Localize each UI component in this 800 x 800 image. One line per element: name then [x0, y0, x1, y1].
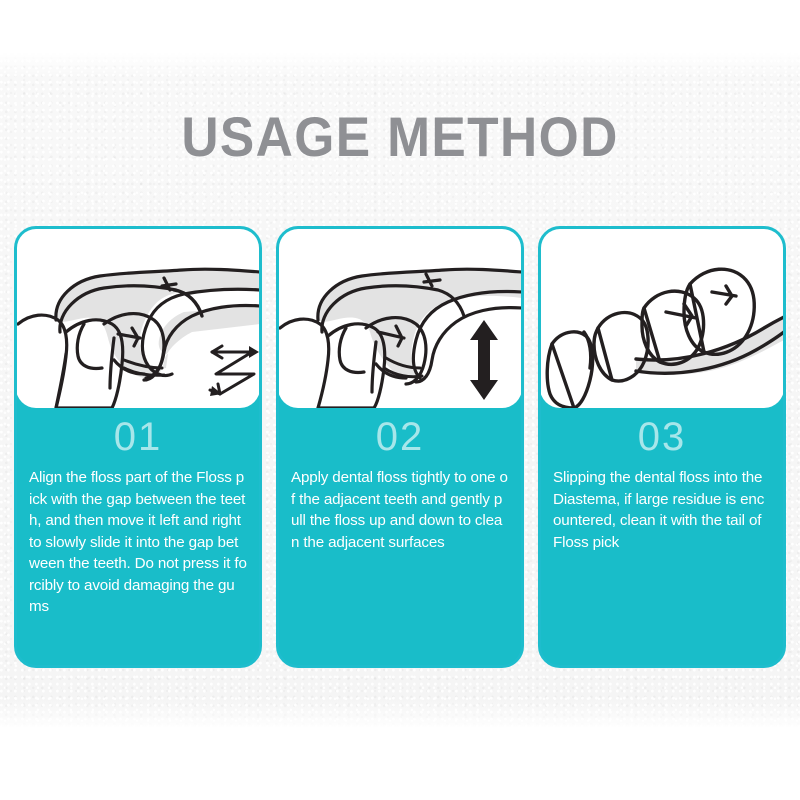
step-03-number: 03: [541, 407, 783, 461]
step-01-illustration: [16, 228, 260, 408]
step-01-number: 01: [17, 407, 259, 461]
step-02-number: 02: [279, 407, 521, 461]
steps-row: 01 Align the floss part of the Floss pic…: [14, 226, 786, 668]
step-02-text: Apply dental floss tightly to one of the…: [279, 461, 521, 553]
step-01-body: 01 Align the floss part of the Floss pic…: [17, 407, 259, 665]
step-card-03: 03 Slipping the dental floss into the Di…: [538, 226, 786, 668]
step-card-01: 01 Align the floss part of the Floss pic…: [14, 226, 262, 668]
paper-top-fade: [0, 52, 800, 78]
step-03-text: Slipping the dental floss into the Diast…: [541, 461, 783, 553]
usage-method-infographic: USAGE METHOD: [0, 0, 800, 800]
step-03-body: 03 Slipping the dental floss into the Di…: [541, 407, 783, 665]
step-card-02: 02 Apply dental floss tightly to one of …: [276, 226, 524, 668]
page-title: USAGE METHOD: [32, 106, 768, 168]
paper-bottom-fade: [0, 700, 800, 730]
step-02-illustration: [278, 228, 522, 408]
floss-pick-vertical-motion-icon: [278, 228, 522, 408]
floss-pick-tail-icon: [540, 228, 784, 408]
step-01-text: Align the floss part of the Floss pick w…: [17, 461, 259, 618]
step-02-body: 02 Apply dental floss tightly to one of …: [279, 407, 521, 665]
step-03-illustration: [540, 228, 784, 408]
floss-pick-side-motion-icon: [16, 228, 260, 408]
